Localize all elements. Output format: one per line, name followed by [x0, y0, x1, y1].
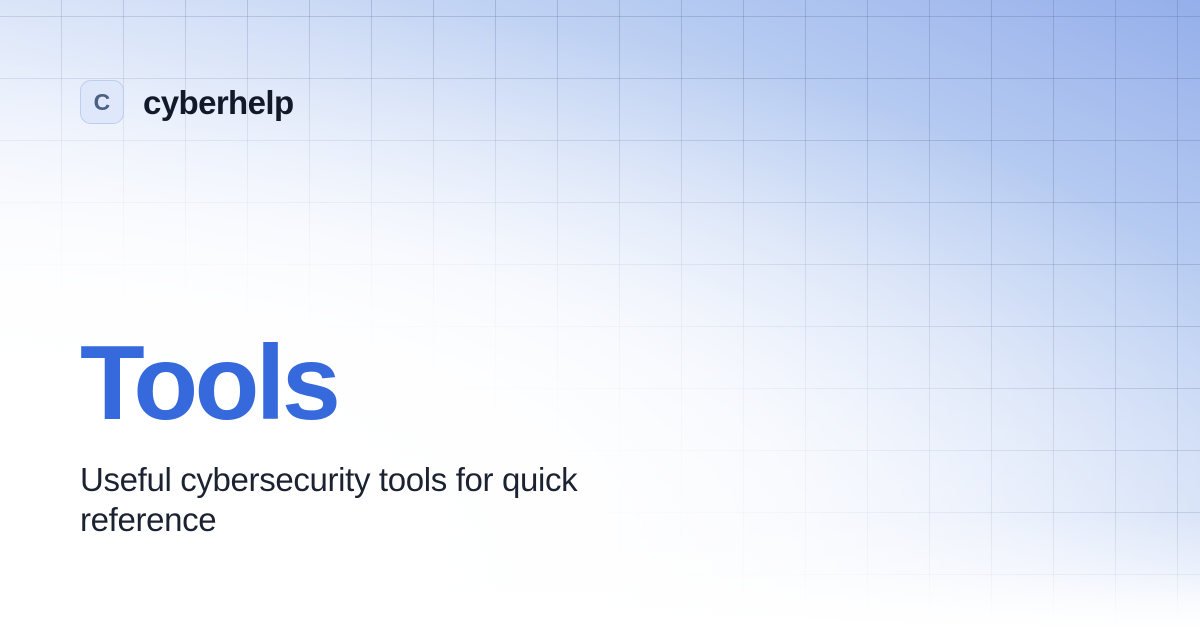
card-content: C cyberhelp Tools Useful cybersecurity t…	[0, 0, 1200, 630]
hero-text-block: Tools Useful cybersecurity tools for qui…	[80, 330, 760, 541]
og-card: C cyberhelp Tools Useful cybersecurity t…	[0, 0, 1200, 630]
page-subtitle: Useful cybersecurity tools for quick ref…	[80, 460, 705, 541]
page-title: Tools	[80, 330, 760, 436]
brand-name: cyberhelp	[143, 86, 294, 119]
brand-lockup[interactable]: C cyberhelp	[80, 80, 294, 124]
brand-logo-icon: C	[80, 80, 124, 124]
